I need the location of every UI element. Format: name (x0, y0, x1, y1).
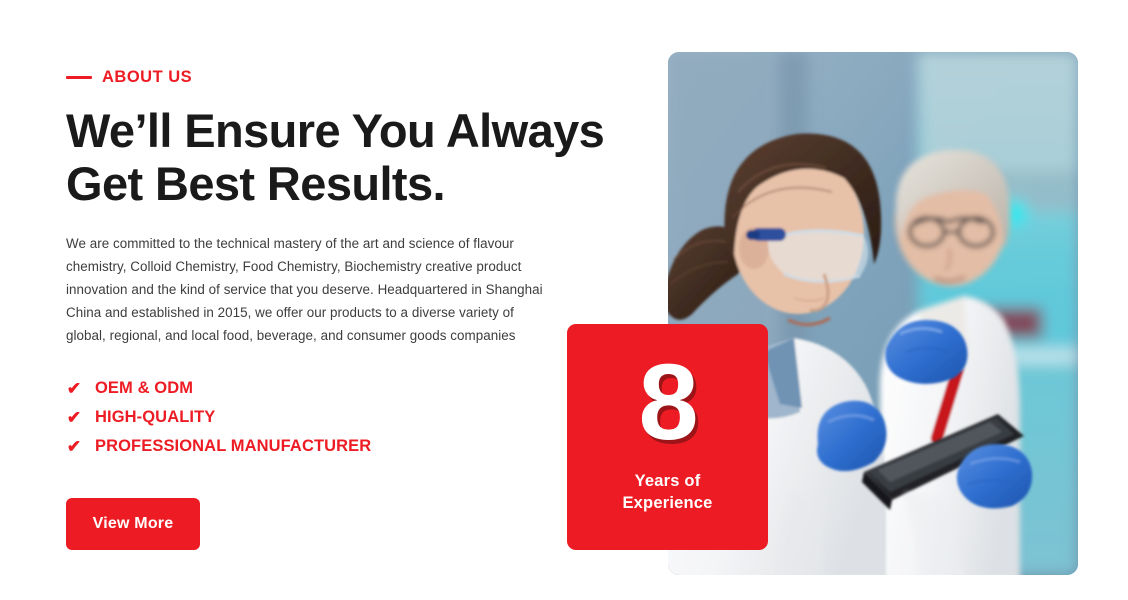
section-eyebrow: ABOUT US (66, 68, 192, 87)
em-dash-icon (66, 76, 92, 79)
experience-caption-line-2: Experience (622, 492, 712, 514)
list-item: ✔ OEM & ODM (66, 379, 526, 398)
about-description: We are committed to the technical master… (66, 232, 550, 347)
feature-label: HIGH-QUALITY (95, 408, 215, 427)
page-title: We’ll Ensure You Always Get Best Results… (66, 104, 626, 210)
experience-number: 8 (638, 348, 696, 456)
list-item: ✔ HIGH-QUALITY (66, 408, 526, 427)
feature-list: ✔ OEM & ODM ✔ HIGH-QUALITY ✔ PROFESSIONA… (66, 379, 526, 456)
list-item: ✔ PROFESSIONAL MANUFACTURER (66, 437, 526, 456)
view-more-button[interactable]: View More (66, 498, 200, 550)
feature-label: OEM & ODM (95, 379, 193, 398)
feature-label: PROFESSIONAL MANUFACTURER (95, 437, 371, 456)
check-icon: ✔ (66, 409, 82, 426)
section-eyebrow-label: ABOUT US (102, 68, 192, 87)
experience-caption-line-1: Years of (622, 470, 712, 492)
years-of-experience-badge: 8 Years of Experience (567, 324, 768, 550)
check-icon: ✔ (66, 438, 82, 455)
check-icon: ✔ (66, 380, 82, 397)
headline-line-1: We’ll Ensure You Always (66, 104, 626, 157)
experience-caption: Years of Experience (622, 470, 712, 515)
about-us-section: ABOUT US We’ll Ensure You Always Get Bes… (0, 0, 1128, 600)
headline-line-2: Get Best Results. (66, 157, 626, 210)
about-content-column: ABOUT US We’ll Ensure You Always Get Bes… (66, 0, 646, 600)
